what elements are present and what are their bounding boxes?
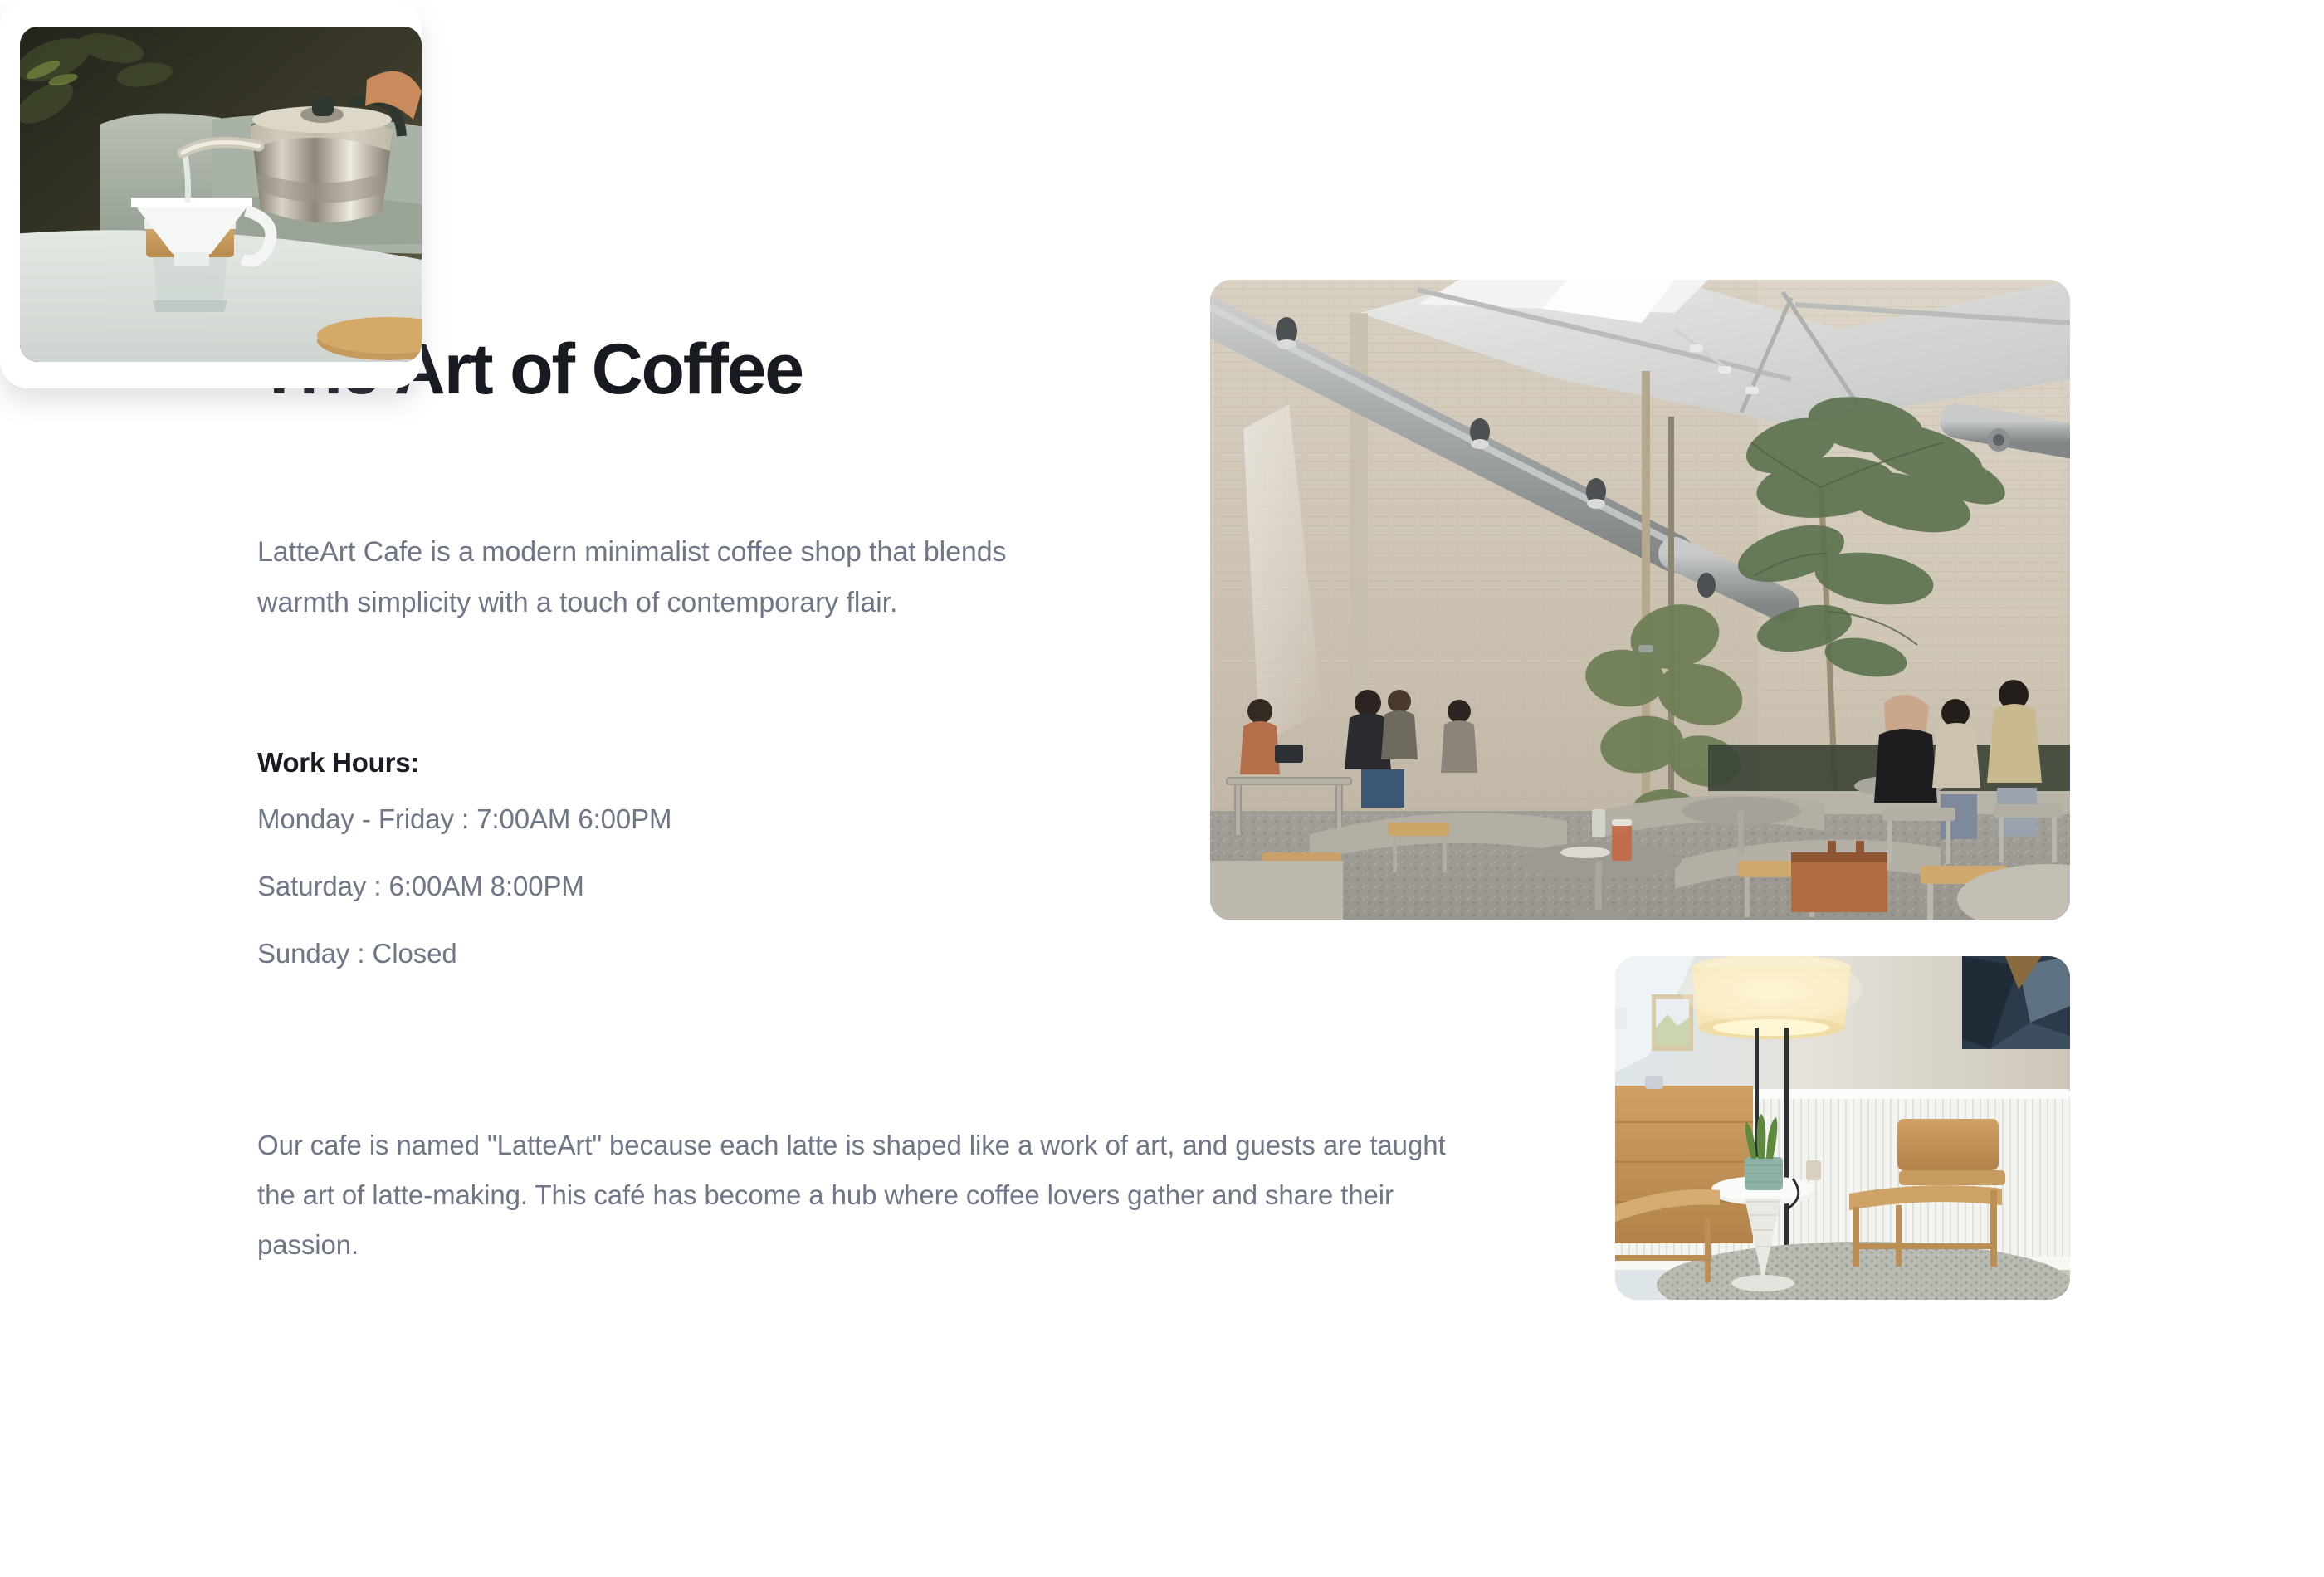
- lounge-corner-photo: [1615, 956, 2070, 1300]
- cafe-interior-photo: [1210, 280, 2070, 920]
- image-collage: [0, 0, 2324, 1577]
- pourover-photo-card: [0, 0, 422, 388]
- pourover-coffee-photo: [20, 27, 422, 362]
